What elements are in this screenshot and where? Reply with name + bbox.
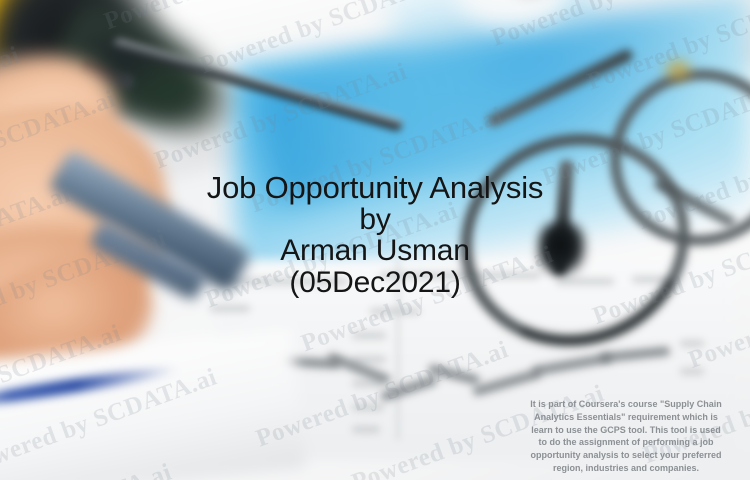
report-text-line xyxy=(680,340,704,347)
title-by-label: by xyxy=(0,204,750,235)
presentation-slide: Powered by SCDATA.aiPowered by SCDATA.ai… xyxy=(0,0,750,480)
title-block: Job Opportunity Analysis by Arman Usman … xyxy=(0,172,750,298)
course-note-line: to do the assignment of performing a job xyxy=(512,436,740,449)
course-note: It is part of Coursera's course "Supply … xyxy=(504,398,748,475)
report-text-line xyxy=(370,308,420,315)
course-note-line: region, industries and companies. xyxy=(512,462,740,475)
author-name: Arman Usman xyxy=(0,235,750,266)
report-text-line xyxy=(352,404,384,411)
course-note-line: Analytics Essentials" requirement which … xyxy=(512,411,740,424)
course-note-line: learn to use the GCPS tool. This tool is… xyxy=(512,424,740,437)
report-text-line xyxy=(680,368,704,375)
course-note-line: opportunity analysis to select your pref… xyxy=(512,449,740,462)
report-text-line xyxy=(352,426,380,433)
course-note-line: It is part of Coursera's course "Supply … xyxy=(512,398,740,411)
eyeglasses-gold-accent xyxy=(660,55,696,85)
report-text-line xyxy=(210,305,250,312)
slide-title: Job Opportunity Analysis xyxy=(0,172,750,204)
slide-date: (05Dec2021) xyxy=(0,267,750,298)
report-text-line xyxy=(352,332,386,339)
